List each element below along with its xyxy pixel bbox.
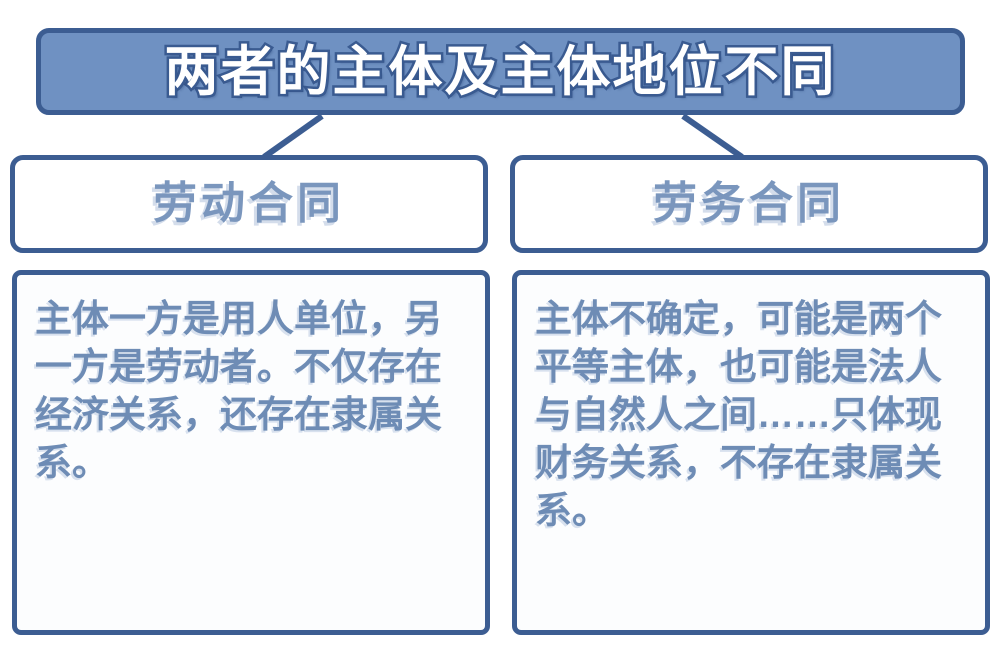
column-header-label: 劳务合同 bbox=[653, 182, 845, 226]
page-title: 两者的主体及主体地位不同 bbox=[165, 45, 837, 99]
column-header-labor-contract: 劳动合同 bbox=[10, 155, 488, 253]
infographic-root: 两者的主体及主体地位不同 劳动合同 主体一方是用人单位，另一方是劳动者。不仅存在… bbox=[0, 0, 1000, 666]
column-body-text: 主体不确定，可能是两个平等主体，也可能是法人与自然人之间……只体现财务关系，不存… bbox=[535, 295, 969, 535]
column-body-service-contract: 主体不确定，可能是两个平等主体，也可能是法人与自然人之间……只体现财务关系，不存… bbox=[512, 270, 990, 635]
column-header-service-contract: 劳务合同 bbox=[510, 155, 988, 253]
column-body-labor-contract: 主体一方是用人单位，另一方是劳动者。不仅存在经济关系，还存在隶属关系。 bbox=[12, 270, 490, 635]
column-header-label: 劳动合同 bbox=[153, 182, 345, 226]
title-banner: 两者的主体及主体地位不同 bbox=[36, 28, 965, 115]
column-body-text: 主体一方是用人单位，另一方是劳动者。不仅存在经济关系，还存在隶属关系。 bbox=[35, 295, 469, 487]
